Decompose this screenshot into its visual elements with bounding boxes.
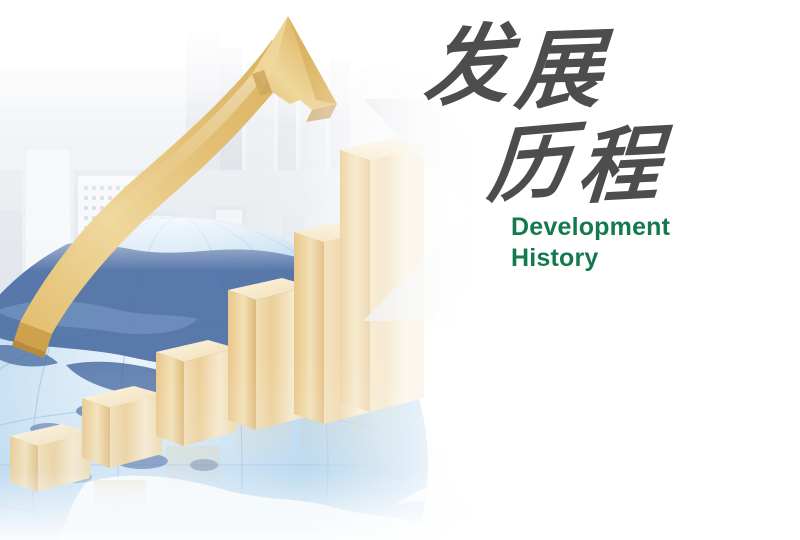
development-history-banner: 发展 历程 Development History: [0, 0, 800, 540]
subtitle-english: Development History: [511, 212, 771, 274]
headline-chinese-line2: 历程: [488, 124, 668, 206]
headline-char-2: 展: [513, 27, 605, 116]
headline-char-1: 发: [421, 21, 514, 113]
subtitle-line-history: History: [511, 243, 771, 274]
headline-char-3: 历: [485, 121, 574, 210]
subtitle-line-development: Development: [511, 212, 771, 243]
headline-chinese-line1: 发展: [424, 24, 608, 110]
headline-char-4: 程: [575, 124, 663, 210]
